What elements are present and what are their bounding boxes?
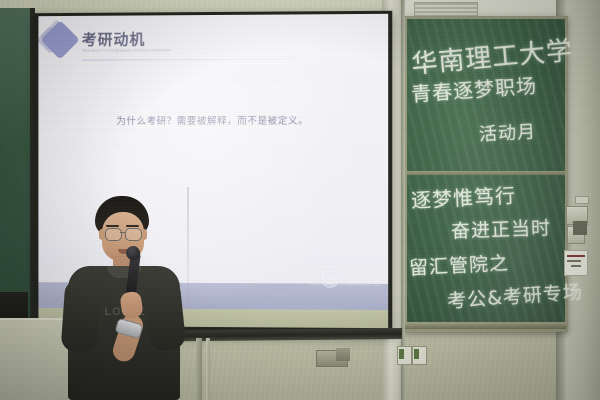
speaker-brow-left [106,225,119,227]
diamond-accent-icon [41,20,80,59]
chalk-line-slogan-b: 奋进正当时 [451,213,552,243]
chalk-line-slogan-a: 逐梦惟笃行 [410,179,516,213]
glasses-bridge-icon [120,232,125,233]
safety-notice-sign [564,250,588,276]
slide-header: 考研动机 Motivation for postgraduate entranc… [38,14,388,68]
slide-title-rule [82,59,312,61]
outlet-switch-a[interactable] [399,349,404,359]
chalk-tray [402,322,566,329]
speaker-figure: LOYAL [55,196,190,400]
glasses-lens-right-icon [125,228,142,241]
slide-body-text: 为什么考研？需要被解释，而不是被定义。 [38,113,388,128]
sign-line-title [567,255,585,257]
sign-line-body [567,260,581,262]
slide-footer-university-en: SCHOOL OF BUSINESS ADMINISTRATION, SCUT [310,283,383,287]
classroom-photo: 华南理工大学 青春逐梦职场 活动月 逐梦惟笃行 奋进正当时 留汇管院之 考公&考… [0,0,600,400]
wall-label-tag [575,196,589,204]
rail-post [196,338,202,400]
slide-footer-university-cn: 华南理工大学工商管理学院 [315,271,382,278]
slide-title: 考研动机 [82,28,145,49]
outlet-switch-b[interactable] [414,349,419,359]
blackboard: 华南理工大学 青春逐梦职场 活动月 逐梦惟笃行 奋进正当时 留汇管院之 考公&考… [404,16,568,332]
sign-line-footer [571,265,581,267]
slide-subtitle: Motivation for postgraduate entrance exa… [83,48,171,53]
glasses-lens-left-icon [105,228,122,241]
chalk-line-event-month: 活动月 [478,118,536,147]
wall-mount-bracket-cap [336,348,350,361]
wall-column-edge [401,0,405,400]
speaker-hand [119,291,143,320]
control-panel-screen [573,221,587,235]
speaker-brow-right [126,225,139,227]
rail-post-secondary [206,338,210,400]
blackboard-divider [407,171,565,175]
chalk-line-slogan-c: 留汇管院之 [408,248,509,280]
